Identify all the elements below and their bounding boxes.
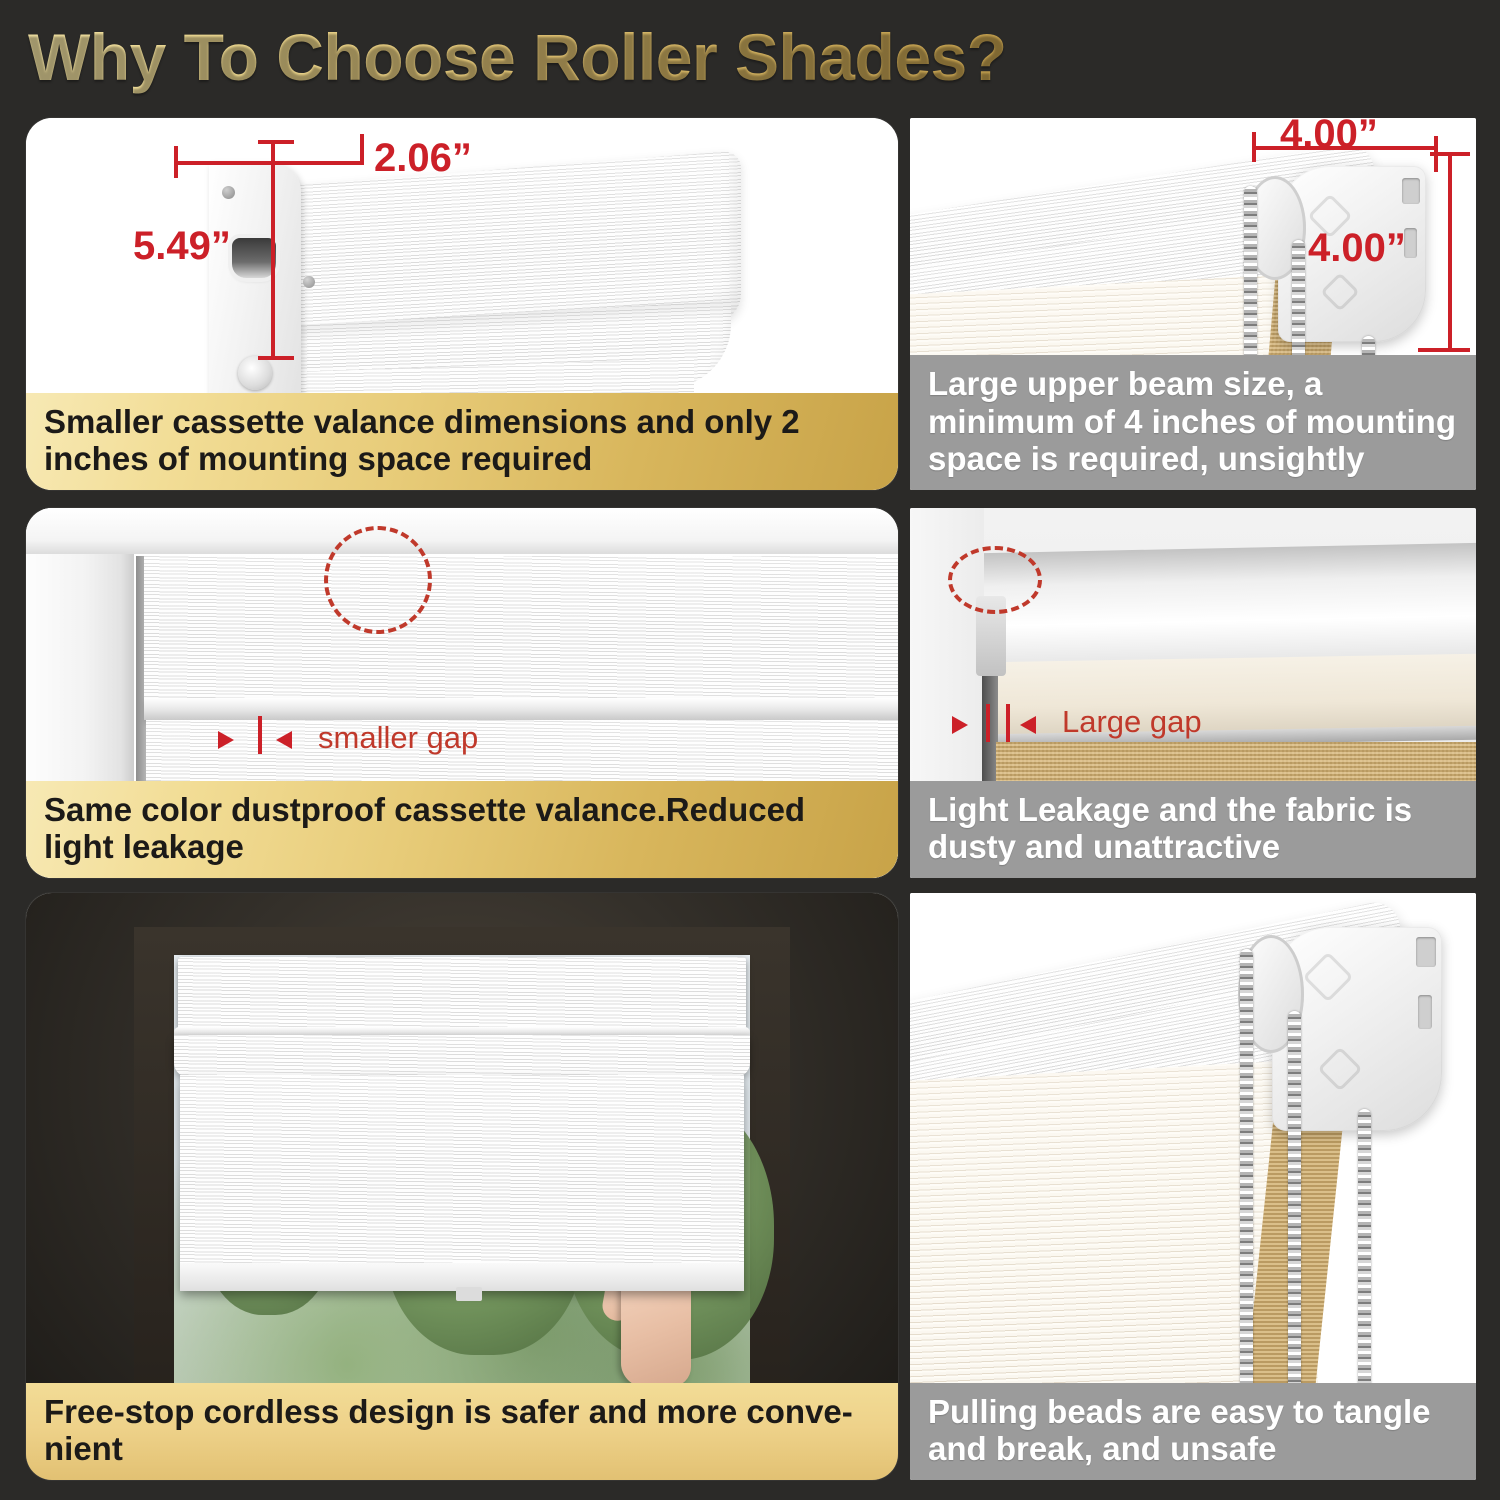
gap-arrow-right-icon	[1020, 716, 1036, 734]
caption-line: space is required, unsightly	[928, 440, 1458, 478]
panel-caption-dustproof-cassette-valance: Same color dustproof cassette valance.Re…	[26, 781, 898, 878]
gap-measure-line	[258, 716, 262, 754]
endcap-slot-icon	[232, 238, 276, 278]
roller-shade-assembly	[178, 957, 746, 1291]
caption-line: and break, and unsafe	[928, 1430, 1458, 1468]
highlight-circle-icon	[324, 526, 432, 634]
bead-chain-left	[1240, 949, 1253, 1419]
highlight-circle-icon	[948, 546, 1042, 614]
bracket-notch-bottom-icon	[1404, 228, 1417, 258]
caption-line: inches of mounting space required	[44, 440, 880, 478]
beam-height-tick-top	[1430, 152, 1470, 156]
bracket-notch-top-icon	[1416, 937, 1436, 967]
beam-height-dimension-line	[1448, 152, 1452, 352]
endcap-screw-mid-icon	[303, 276, 315, 288]
cassette-valance-face	[144, 556, 898, 706]
cassette-valance-box	[178, 957, 746, 1031]
height-dimension-label: 5.49”	[133, 224, 231, 269]
panel-pulling-beads-tangle-unsafe[interactable]: Pulling beads are easy to tangle and bre…	[910, 893, 1476, 1480]
caption-line: nient	[44, 1430, 880, 1468]
panel-caption-light-leakage-dusty-fabric: Light Leakage and the fabric is dusty an…	[910, 781, 1476, 878]
panel-caption-large-upper-beam-size: Large upper beam size, a minimum of 4 in…	[910, 355, 1476, 490]
page-title: Why To Choose Roller Shades?	[28, 18, 1068, 96]
gap-measure-line-a	[986, 704, 990, 742]
height-dimension-line	[271, 140, 275, 360]
caption-line: minimum of 4 inches of mounting	[928, 403, 1458, 441]
caption-line: Large upper beam size, a	[928, 365, 1458, 403]
gap-measure-line-b	[1006, 704, 1010, 742]
caption-line: Free-stop cordless design is safer and m…	[44, 1393, 880, 1431]
window-frame-top	[26, 508, 898, 554]
width-dimension-label: 2.06”	[374, 136, 472, 181]
cassette-valance-lower	[174, 1035, 750, 1077]
caption-line: Light Leakage and the fabric is	[928, 791, 1458, 829]
bead-chain-middle	[1288, 1011, 1301, 1419]
panel-caption-cassette-valance-dimensions: Smaller cassette valance dimensions and …	[26, 393, 898, 490]
beam-width-label: 4.00”	[1280, 118, 1378, 157]
endcap-screw-top-icon	[222, 186, 235, 199]
beam-height-tick-bottom	[1418, 348, 1470, 352]
panel-light-leakage-dusty-fabric[interactable]: Large gap Light Leakage and the fabric i…	[910, 508, 1476, 878]
caption-line: Same color dustproof cassette valance.Re…	[44, 791, 880, 829]
caption-line: Smaller cassette valance dimensions and …	[44, 403, 880, 441]
gap-arrow-left-icon	[218, 731, 234, 749]
gap-arrow-right-icon	[276, 731, 292, 749]
endcap-screw-icon	[238, 356, 272, 390]
panel-dustproof-cassette-valance[interactable]: smaller gap Same color dustproof cassett…	[26, 508, 898, 878]
width-dimension-tick-left	[174, 146, 178, 178]
bracket-notch-bottom-icon	[1418, 995, 1432, 1029]
panel-cassette-valance-dimensions[interactable]: 2.06” 5.49” Smaller cassette valance dim…	[26, 118, 898, 490]
panel-caption-pulling-beads-tangle-unsafe: Pulling beads are easy to tangle and bre…	[910, 1383, 1476, 1480]
caption-line: dusty and unattractive	[928, 828, 1458, 866]
bead-chain-right	[1358, 1109, 1371, 1419]
gap-arrow-left-icon	[952, 716, 968, 734]
caption-line: light leakage	[44, 828, 880, 866]
width-dimension-tick-right	[360, 134, 364, 164]
gap-callout-label: Large gap	[1062, 704, 1202, 740]
gap-callout-label: smaller gap	[318, 720, 478, 756]
caption-line: Pulling beads are easy to tangle	[928, 1393, 1458, 1431]
width-dimension-line	[174, 161, 364, 165]
panel-caption-free-stop-cordless-design: Free-stop cordless design is safer and m…	[26, 1383, 898, 1480]
headrail-upper	[984, 543, 1476, 671]
panel-free-stop-cordless-design[interactable]: Free-stop cordless design is safer and m…	[26, 893, 898, 1480]
beam-width-tick-left	[1252, 132, 1256, 162]
height-dimension-tick-bottom	[258, 356, 294, 360]
beam-height-label: 4.00”	[1308, 226, 1406, 271]
bracket-notch-top-icon	[1402, 178, 1420, 204]
shade-fabric-body	[180, 1075, 744, 1289]
height-dimension-tick-top	[258, 140, 294, 144]
shade-pull-tab[interactable]	[456, 1287, 482, 1301]
panel-large-upper-beam-size[interactable]: 4.00” 4.00” Large upper beam size, a min…	[910, 118, 1476, 490]
